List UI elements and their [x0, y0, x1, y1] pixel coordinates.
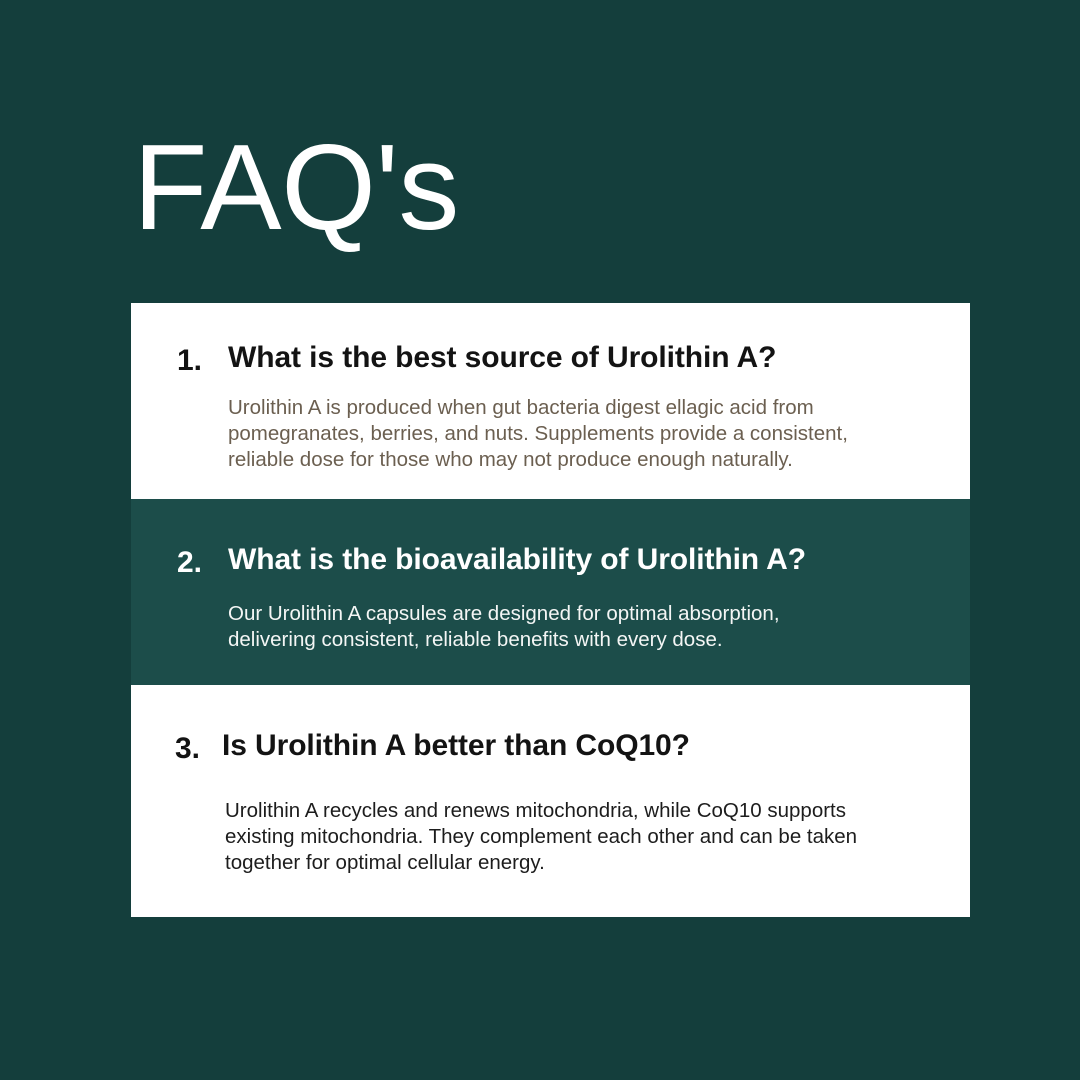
faq-item-number: 2. — [177, 542, 228, 582]
faq-page: FAQ's 1. What is the best source of Urol… — [0, 0, 1080, 1080]
faq-question-row: 2. What is the bioavailability of Urolit… — [177, 542, 924, 582]
faq-item-number: 3. — [175, 728, 222, 768]
faq-item-2[interactable]: 2. What is the bioavailability of Urolit… — [131, 499, 970, 685]
faq-item-number: 1. — [177, 340, 228, 380]
faq-question-text: What is the best source of Urolithin A? — [228, 340, 788, 377]
faq-item-3[interactable]: 3. Is Urolithin A better than CoQ10? Uro… — [131, 685, 970, 916]
faq-question-row: 1. What is the best source of Urolithin … — [177, 340, 924, 380]
faq-answer-text: Urolithin A recycles and renews mitochon… — [225, 798, 865, 877]
faq-item-1[interactable]: 1. What is the best source of Urolithin … — [131, 303, 970, 499]
faq-answer-text: Urolithin A is produced when gut bacteri… — [228, 395, 888, 474]
faq-answer-text: Our Urolithin A capsules are designed fo… — [228, 601, 868, 653]
faq-question-text: Is Urolithin A better than CoQ10? — [222, 728, 924, 765]
faq-question-text: What is the bioavailability of Urolithin… — [228, 542, 828, 579]
faq-list: 1. What is the best source of Urolithin … — [131, 303, 970, 917]
faq-question-row: 3. Is Urolithin A better than CoQ10? — [177, 728, 924, 768]
page-title: FAQ's — [133, 126, 459, 248]
